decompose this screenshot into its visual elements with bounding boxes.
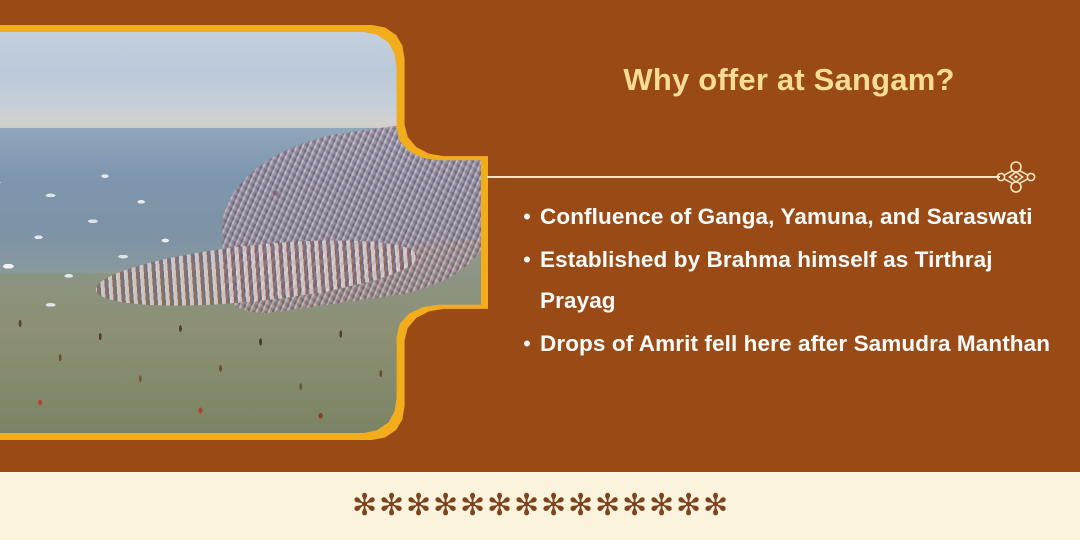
slide-root: Why offer at Sangam? • Confluence of Gan… [0,0,1080,540]
list-item: • Established by Brahma himself as Tirth… [514,239,1070,321]
footer-ornament-icon: ✻ [622,491,647,521]
list-item-text: Confluence of Ganga, Yamuna, and Saraswa… [540,196,1033,237]
photo-gold-border [0,25,488,440]
footer-ornament-icon: ✻ [649,491,674,521]
divider [487,160,1047,194]
bullet-list: • Confluence of Ganga, Yamuna, and Saras… [514,196,1070,366]
photo-sky [0,32,481,120]
sangam-photo [0,32,481,433]
sangam-photo-frame [0,25,488,440]
footer-ornament-icon: ✻ [352,491,377,521]
photo-bathers [0,297,471,429]
footer-ornament-icon: ✻ [487,491,512,521]
footer-ornament-icon: ✻ [406,491,431,521]
footer-ornament-icon: ✻ [595,491,620,521]
bullet-marker-icon: • [514,196,540,237]
divider-line [487,176,1000,178]
footer-ornament-icon: ✻ [703,491,728,521]
footer-ornament-icon: ✻ [676,491,701,521]
footer-ornament-row: ✻✻✻✻✻✻✻✻✻✻✻✻✻✻ [352,491,728,521]
bullet-marker-icon: • [514,323,540,364]
list-item: • Drops of Amrit fell here after Samudra… [514,323,1070,364]
decorative-knot-ornament-icon [993,160,1039,194]
footer-band: ✻✻✻✻✻✻✻✻✻✻✻✻✻✻ [0,472,1080,540]
list-item: • Confluence of Ganga, Yamuna, and Saras… [514,196,1070,237]
slide-title: Why offer at Sangam? [524,62,1054,98]
footer-ornament-icon: ✻ [379,491,404,521]
content-panel: Why offer at Sangam? • Confluence of Gan… [500,0,1080,472]
bullet-marker-icon: • [514,239,540,280]
footer-ornament-icon: ✻ [433,491,458,521]
list-item-text: Established by Brahma himself as Tirthra… [540,239,1070,321]
footer-ornament-icon: ✻ [460,491,485,521]
footer-ornament-icon: ✻ [568,491,593,521]
footer-ornament-icon: ✻ [541,491,566,521]
footer-ornament-icon: ✻ [514,491,539,521]
photo-artwork [0,32,481,433]
list-item-text: Drops of Amrit fell here after Samudra M… [540,323,1050,364]
